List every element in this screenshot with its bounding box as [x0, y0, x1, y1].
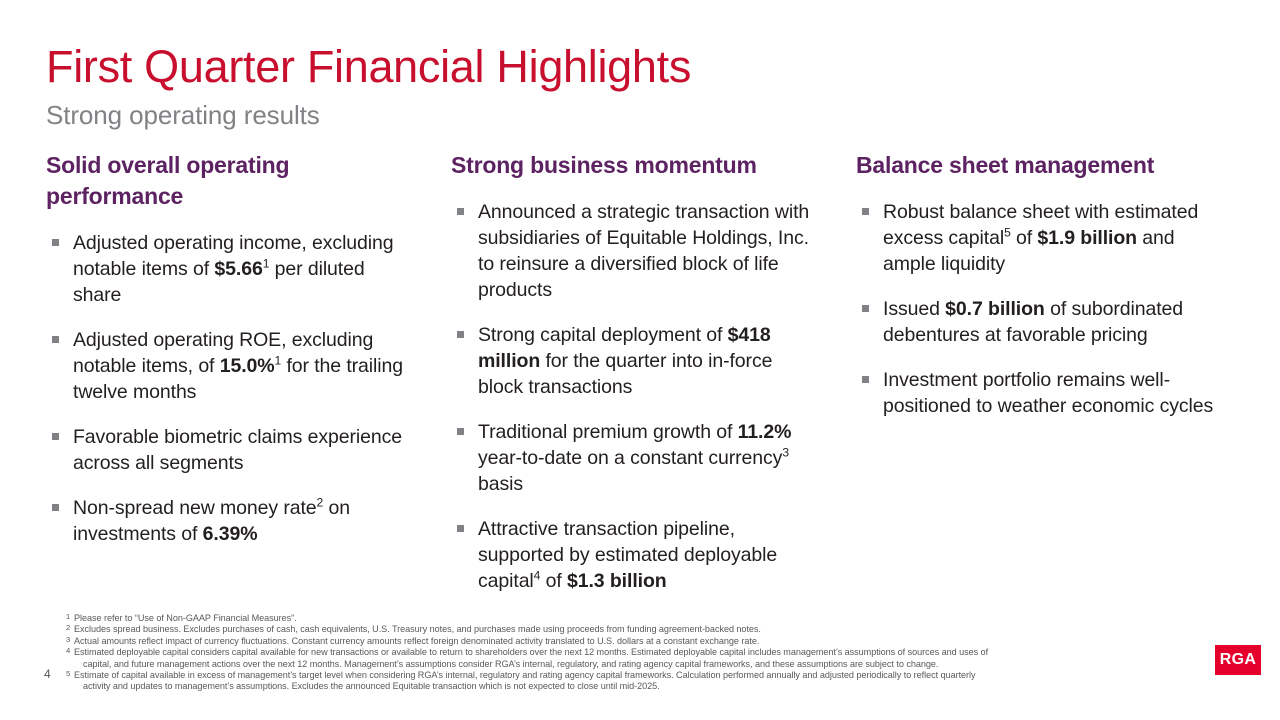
footnote-line: capital, and future management actions o… [74, 659, 1196, 670]
column-heading: Solid overall operating performance [46, 150, 406, 212]
bullet-emphasis: 6.39% [203, 523, 258, 545]
bullet-item: Adjusted operating income, excluding not… [46, 230, 406, 308]
logo-label: RGA [1220, 651, 1256, 669]
footnote-line: activity and updates to management’s ass… [74, 681, 1196, 692]
square-bullet-icon [862, 305, 869, 312]
bullet-list: Robust balance sheet with estimated exce… [856, 199, 1226, 419]
bullet-text: Announced a strategic transaction with s… [478, 201, 809, 301]
footnote-line: Excludes spread business. Excludes purch… [74, 624, 761, 634]
footnote-number: 1 [66, 611, 70, 622]
bullet-text: Investment portfolio remains well-positi… [883, 369, 1213, 417]
column-heading: Balance sheet management [856, 150, 1226, 181]
bullet-item: Adjusted operating ROE, excluding notabl… [46, 327, 406, 405]
bullet-item: Announced a strategic transaction with s… [451, 199, 811, 303]
square-bullet-icon [862, 376, 869, 383]
bullet-emphasis: $0.7 billion [945, 298, 1045, 320]
footnote-line: Please refer to “Use of Non-GAAP Financi… [74, 613, 297, 623]
footnote: 2Excludes spread business. Excludes purc… [66, 624, 1196, 635]
footnote-line: Estimate of capital available in excess … [74, 670, 976, 680]
bullet-item: Investment portfolio remains well-positi… [856, 367, 1226, 419]
bullet-text: year-to-date on a constant currency [478, 447, 782, 469]
bullet-item: Issued $0.7 billion of subordinated debe… [856, 296, 1226, 348]
column-balance-sheet-management: Balance sheet management Robust balance … [856, 150, 1246, 419]
slide-root: First Quarter Financial Highlights Stron… [0, 0, 1280, 720]
bullet-text: Traditional premium growth of [478, 421, 738, 443]
footnote-number: 2 [66, 622, 70, 633]
footnote-number: 3 [66, 634, 70, 645]
footnote: 1Please refer to “Use of Non-GAAP Financ… [66, 613, 1196, 624]
footnotes: 1Please refer to “Use of Non-GAAP Financ… [66, 613, 1196, 693]
bullet-emphasis: $1.3 billion [567, 570, 667, 592]
column-solid-overall-operating-performance: Solid overall operating performance Adju… [46, 150, 451, 547]
footnote-number: 4 [66, 645, 70, 656]
square-bullet-icon [457, 331, 464, 338]
bullet-emphasis: $5.66 [214, 258, 262, 280]
square-bullet-icon [862, 208, 869, 215]
square-bullet-icon [52, 239, 59, 246]
bullet-text: Favorable biometric claims experience ac… [73, 426, 402, 474]
footnote-line: Actual amounts reflect impact of currenc… [74, 636, 759, 646]
bullet-item: Strong capital deployment of $418 millio… [451, 322, 811, 400]
column-heading: Strong business momentum [451, 150, 811, 181]
bullet-item: Robust balance sheet with estimated exce… [856, 199, 1226, 277]
footnote-line: Estimated deployable capital considers c… [74, 647, 988, 657]
bullet-item: Non-spread new money rate2 on investment… [46, 495, 406, 547]
square-bullet-icon [457, 208, 464, 215]
bullet-emphasis: 15.0% [220, 355, 275, 377]
footnote: 3Actual amounts reflect impact of curren… [66, 636, 1196, 647]
page-subtitle: Strong operating results [46, 100, 1196, 130]
content-columns: Solid overall operating performance Adju… [46, 150, 1246, 594]
footnote: 5Estimate of capital available in excess… [66, 670, 1196, 693]
bullet-text: of [540, 570, 567, 592]
bullet-text: Issued [883, 298, 945, 320]
square-bullet-icon [52, 433, 59, 440]
square-bullet-icon [457, 428, 464, 435]
bullet-list: Adjusted operating income, excluding not… [46, 230, 406, 547]
square-bullet-icon [52, 504, 59, 511]
square-bullet-icon [457, 525, 464, 532]
title-area: First Quarter Financial Highlights Stron… [46, 40, 1196, 130]
footnote-ref: 3 [782, 446, 789, 460]
bullet-emphasis: $1.9 billion [1037, 227, 1137, 249]
bullet-item: Attractive transaction pipeline, support… [451, 516, 811, 594]
page-number: 4 [44, 667, 51, 681]
bullet-text: Non-spread new money rate [73, 497, 317, 519]
column-strong-business-momentum: Strong business momentum Announced a str… [451, 150, 856, 594]
bullet-list: Announced a strategic transaction with s… [451, 199, 811, 594]
footnote-number: 5 [66, 668, 70, 679]
footnote: 4Estimated deployable capital considers … [66, 647, 1196, 670]
square-bullet-icon [52, 336, 59, 343]
bullet-text: basis [478, 473, 523, 495]
footnote-ref: 5 [1004, 226, 1011, 240]
page-title: First Quarter Financial Highlights [46, 40, 1196, 93]
bullet-item: Favorable biometric claims experience ac… [46, 424, 406, 476]
rga-logo: RGA [1215, 645, 1261, 675]
bullet-item: Traditional premium growth of 11.2% year… [451, 419, 811, 497]
bullet-emphasis: 11.2% [738, 421, 792, 443]
bullet-text: Strong capital deployment of [478, 324, 728, 346]
bullet-text: of [1011, 227, 1038, 249]
